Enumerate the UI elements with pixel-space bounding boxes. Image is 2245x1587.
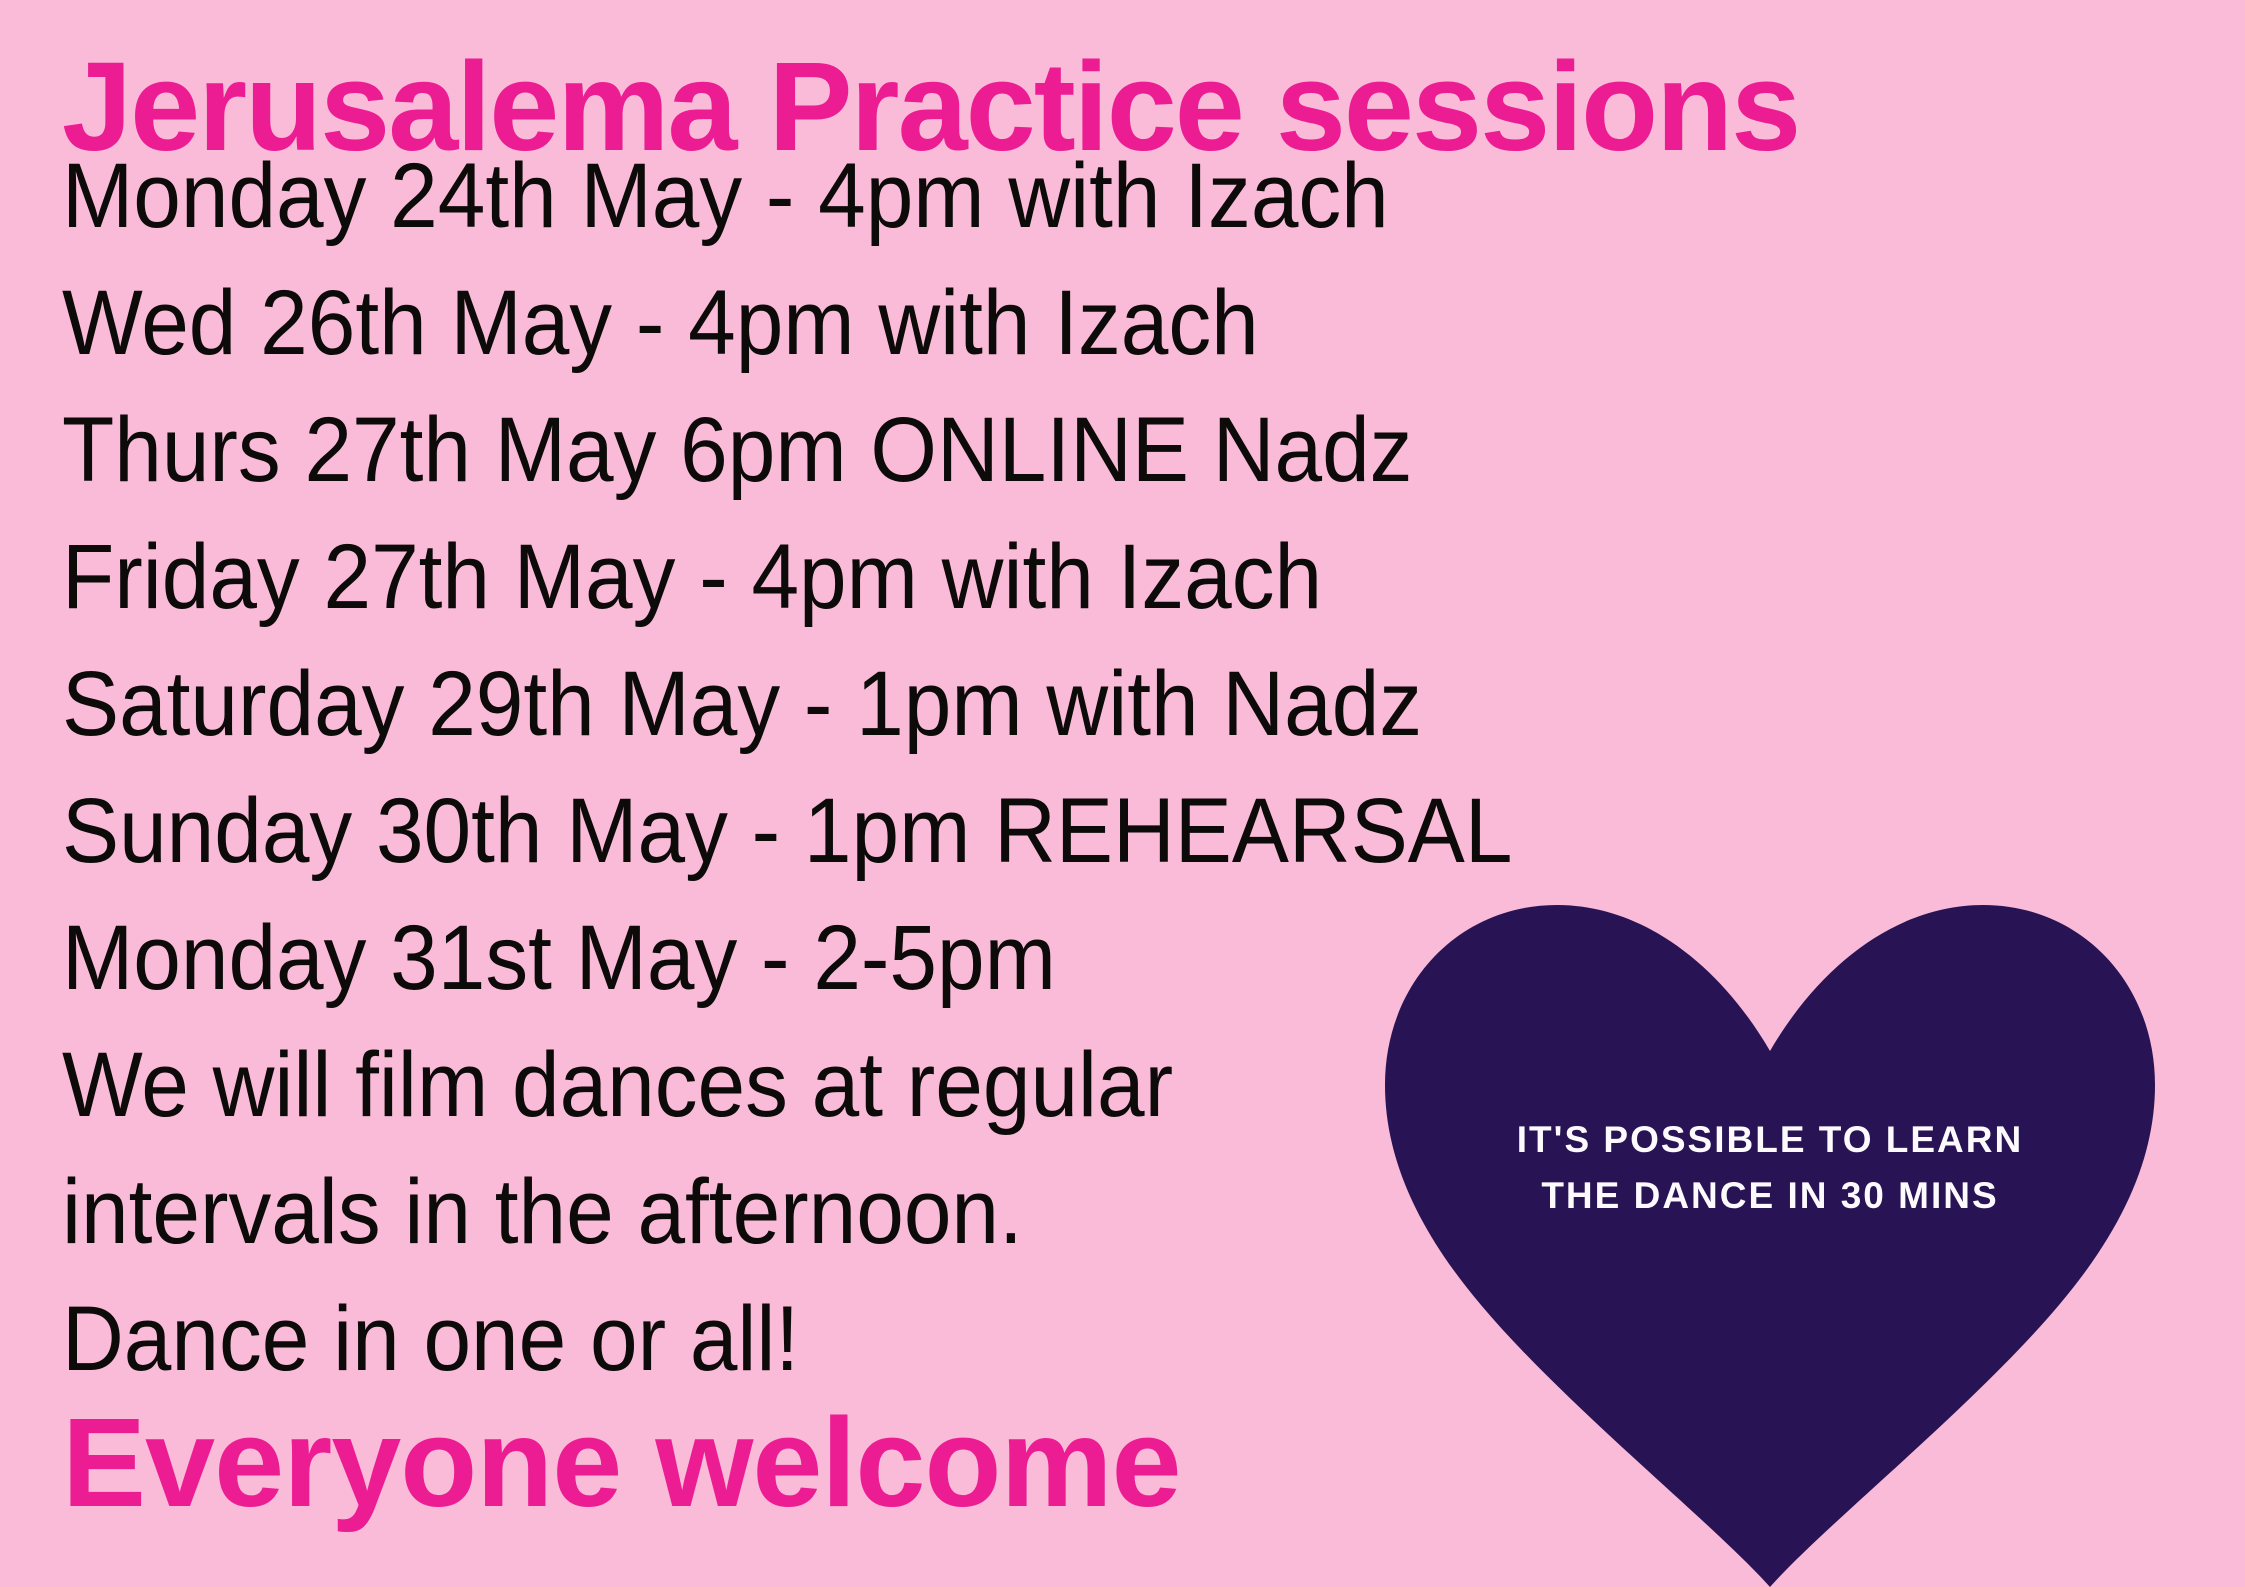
schedule-line: Monday 31st May - 2-5pm xyxy=(62,912,1056,1004)
heart-caption-line-1: IT'S POSSIBLE TO LEARN xyxy=(1420,1112,2120,1168)
schedule-note-line: Dance in one or all! xyxy=(62,1293,799,1385)
closing-headline: Everyone welcome xyxy=(62,1400,1181,1526)
schedule-line: Sunday 30th May - 1pm REHEARSAL xyxy=(62,785,1512,877)
schedule-line: Saturday 29th May - 1pm with Nadz xyxy=(62,658,1422,750)
schedule-line: Wed 26th May - 4pm with Izach xyxy=(62,277,1259,369)
heart-icon xyxy=(1385,905,2155,1587)
poster-canvas: IT'S POSSIBLE TO LEARN THE DANCE IN 30 M… xyxy=(0,0,2245,1587)
heart-caption: IT'S POSSIBLE TO LEARN THE DANCE IN 30 M… xyxy=(1420,1112,2120,1224)
schedule-note-line: intervals in the afternoon. xyxy=(62,1166,1023,1258)
schedule-line: Monday 24th May - 4pm with Izach xyxy=(62,150,1389,242)
schedule-line: Thurs 27th May 6pm ONLINE Nadz xyxy=(62,404,1412,496)
schedule-line: Friday 27th May - 4pm with Izach xyxy=(62,531,1322,623)
heart-caption-line-2: THE DANCE IN 30 MINS xyxy=(1420,1168,2120,1224)
schedule-note-line: We will film dances at regular xyxy=(62,1039,1173,1131)
